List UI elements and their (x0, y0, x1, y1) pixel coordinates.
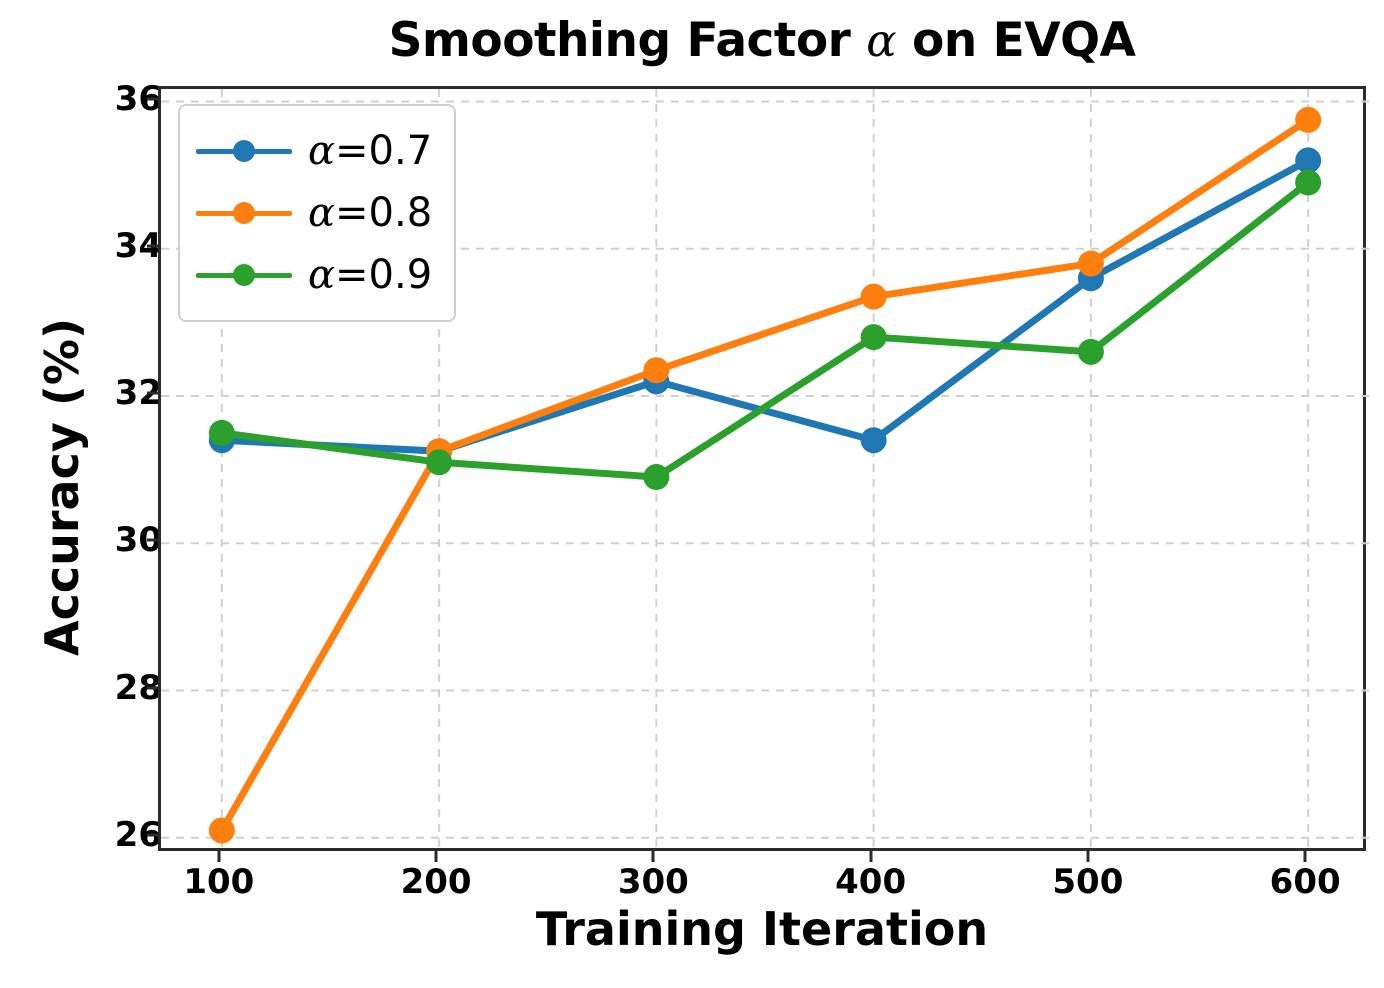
legend-item-2[interactable]: α=0.8 (196, 182, 432, 244)
legend-alpha-symbol: α (308, 252, 335, 298)
legend-label: α=0.9 (308, 255, 432, 295)
legend-label: α=0.8 (308, 193, 432, 233)
x-tick-label: 400 (791, 862, 951, 902)
chart-title: Smoothing Factor α on EVQA (158, 16, 1366, 65)
y-tick-mark (147, 244, 158, 247)
data-point (426, 449, 452, 475)
legend-value: =0.8 (335, 190, 432, 236)
legend-marker-dot (233, 202, 255, 224)
data-point (1295, 170, 1321, 196)
legend-value: =0.7 (335, 128, 432, 174)
legend[interactable]: α=0.7α=0.8α=0.9 (178, 104, 456, 322)
data-point (1078, 339, 1104, 365)
data-point (643, 464, 669, 490)
data-point (1078, 250, 1104, 276)
chart-title-alpha-symbol: α (866, 14, 896, 67)
y-tick-mark (147, 833, 158, 836)
y-tick-mark (147, 539, 158, 542)
y-tick-mark (147, 686, 158, 689)
data-point (643, 357, 669, 383)
y-tick-mark (147, 392, 158, 395)
y-tick-label: 36 (42, 79, 162, 119)
data-point (209, 817, 235, 843)
legend-item-1[interactable]: α=0.7 (196, 120, 432, 182)
legend-swatch (196, 260, 292, 290)
chart-title-prefix: Smoothing Factor (389, 13, 867, 68)
data-point (1295, 107, 1321, 133)
legend-label: α=0.7 (308, 131, 432, 171)
x-tick-label: 600 (1225, 862, 1384, 902)
legend-marker-dot (233, 264, 255, 286)
data-point (209, 420, 235, 446)
data-point (861, 284, 887, 310)
x-tick-label: 300 (573, 862, 733, 902)
legend-item-3[interactable]: α=0.9 (196, 244, 432, 306)
legend-value: =0.9 (335, 252, 432, 298)
x-axis-label: Training Iteration (158, 902, 1366, 956)
legend-alpha-symbol: α (308, 190, 335, 236)
x-tick-label: 100 (139, 862, 299, 902)
y-tick-mark (147, 97, 158, 100)
legend-swatch (196, 198, 292, 228)
data-point (861, 427, 887, 453)
legend-alpha-symbol: α (308, 128, 335, 174)
y-tick-label: 26 (42, 815, 162, 855)
chart-figure: Smoothing Factor α on EVQA Accuracy (%) … (0, 0, 1384, 988)
y-tick-label: 30 (42, 520, 162, 560)
x-tick-label: 200 (356, 862, 516, 902)
x-tick-label: 500 (1008, 862, 1168, 902)
chart-title-suffix: on EVQA (896, 13, 1135, 68)
y-tick-label: 32 (42, 373, 162, 413)
legend-marker-dot (233, 140, 255, 162)
y-tick-label: 34 (42, 226, 162, 266)
data-point (861, 324, 887, 350)
y-tick-label: 28 (42, 668, 162, 708)
legend-swatch (196, 136, 292, 166)
